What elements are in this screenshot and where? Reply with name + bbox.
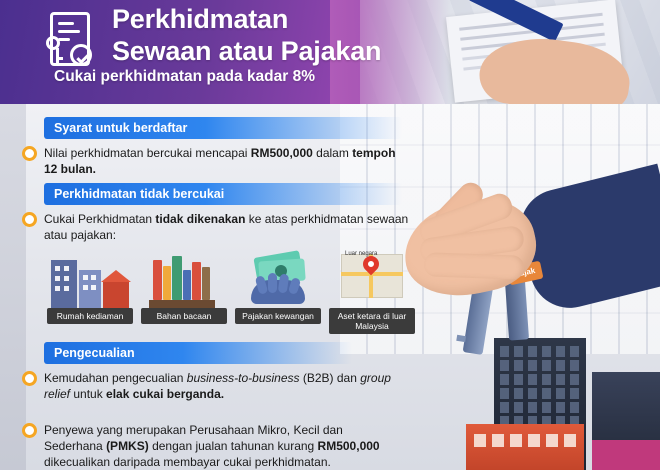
bullet-icon xyxy=(22,146,37,161)
books-icon xyxy=(141,250,227,308)
section-pengecualian-item-2: Penyewa yang merupakan Perusahaan Mikro,… xyxy=(44,422,394,470)
card-pajakan-kewangan: Pajakan kewangan xyxy=(235,250,321,324)
hand-money-icon xyxy=(235,250,321,308)
section-heading-tidak-bercukai: Perkhidmatan tidak bercukai xyxy=(44,183,402,205)
title-line-1: Perkhidmatan xyxy=(112,4,532,36)
section-syarat-item-1: Nilai perkhidmatan bercukai mencapai RM5… xyxy=(44,145,404,177)
infographic-page: SEWA Pajak Perkhidmatan Sewaan atau Paja… xyxy=(0,0,660,470)
section-heading-pengecualian: Pengecualian xyxy=(44,342,352,364)
card-rumah-kediaman: Rumah kediaman xyxy=(47,250,133,324)
residential-buildings-icon xyxy=(47,250,133,308)
section-heading-syarat: Syarat untuk berdaftar xyxy=(44,117,402,139)
card-label: Bahan bacaan xyxy=(141,308,227,324)
card-aset-ketara-luar-malaysia: Luar negara Aset ketara di luar Malaysia xyxy=(329,250,415,334)
page-title: Perkhidmatan Sewaan atau Pajakan xyxy=(112,4,532,68)
bullet-icon xyxy=(22,423,37,438)
card-label: Aset ketara di luar Malaysia xyxy=(329,308,415,334)
section-pengecualian-item-1: Kemudahan pengecualian business-to-busin… xyxy=(44,370,394,402)
section-tidak-bercukai-item-1: Cukai Perkhidmatan tidak dikenakan ke at… xyxy=(44,211,414,243)
card-bahan-bacaan: Bahan bacaan xyxy=(141,250,227,324)
bullet-icon xyxy=(22,371,37,386)
bullet-icon xyxy=(22,212,37,227)
card-label: Pajakan kewangan xyxy=(235,308,321,324)
title-line-2: Sewaan atau Pajakan xyxy=(112,36,532,68)
document-key-check-icon xyxy=(44,10,100,76)
header-banner: Perkhidmatan Sewaan atau Pajakan Cukai p… xyxy=(0,0,660,104)
map-pin-icon: Luar negara xyxy=(329,250,415,308)
card-label: Rumah kediaman xyxy=(47,308,133,324)
page-subtitle: Cukai perkhidmatan pada kadar 8% xyxy=(54,68,474,86)
content-area: Syarat untuk berdaftar Nilai perkhidmata… xyxy=(0,104,660,470)
